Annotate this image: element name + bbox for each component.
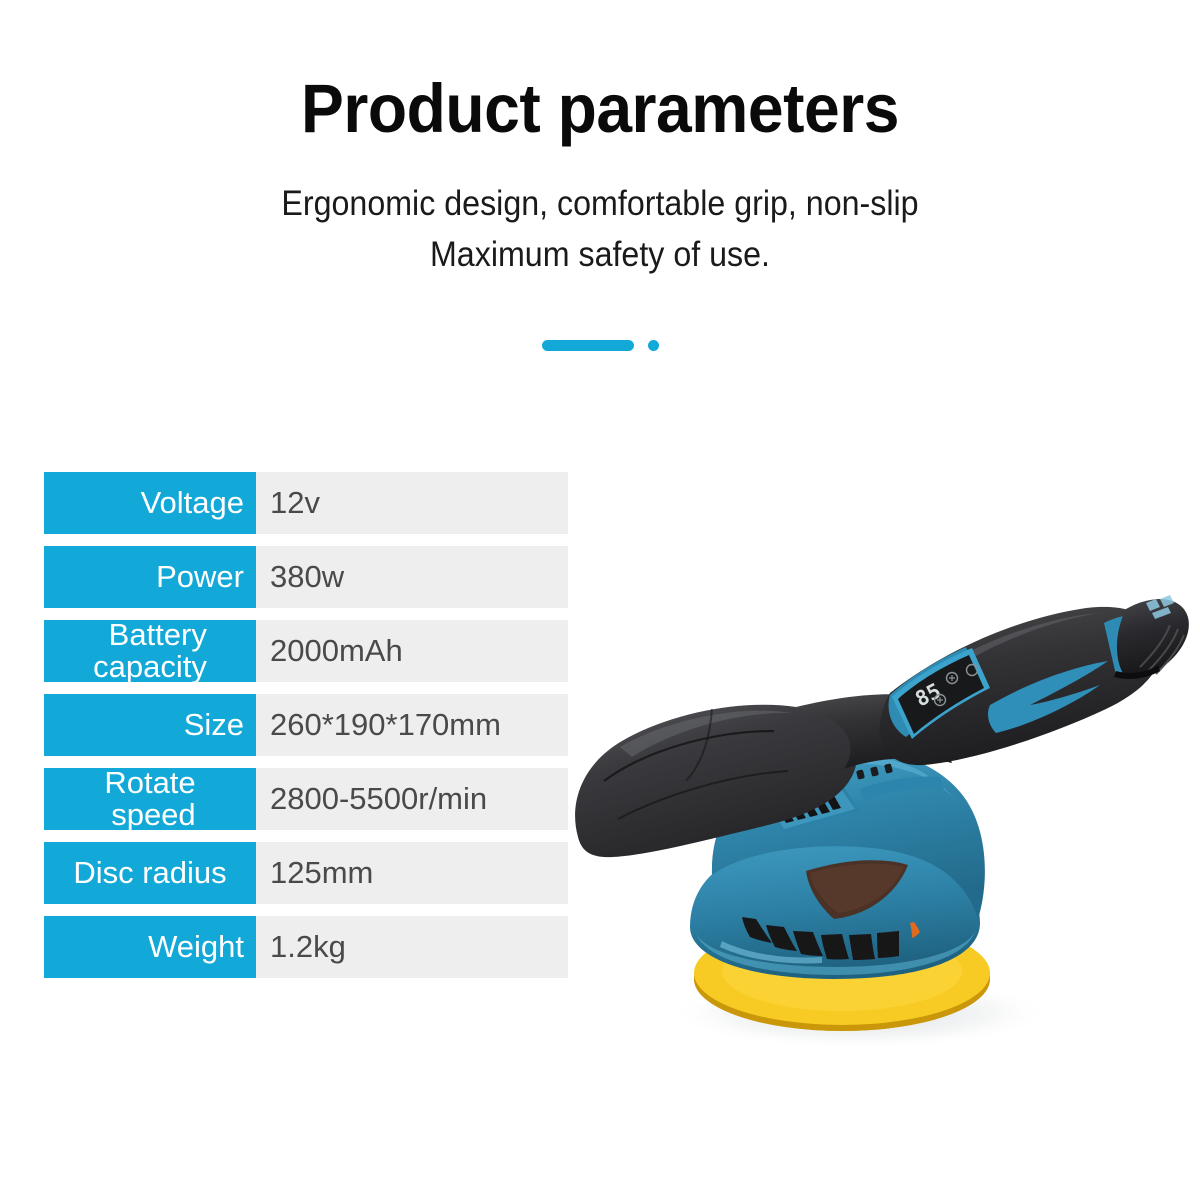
subtitle-line-1: Ergonomic design, comfortable grip, non-… [48, 179, 1152, 230]
section-divider [0, 340, 1200, 351]
spec-label: Power [44, 546, 256, 608]
spec-label: Battery capacity [44, 620, 256, 682]
spec-value: 125mm [256, 842, 568, 904]
divider-bar-icon [542, 340, 634, 351]
page-header: Product parameters Ergonomic design, com… [0, 0, 1200, 281]
battery-pack [1114, 599, 1189, 679]
spec-value: 1.2kg [256, 916, 568, 978]
divider-dot-icon [648, 340, 659, 351]
spec-label: Weight [44, 916, 256, 978]
spec-row: Rotate speed2800-5500r/min [44, 768, 568, 830]
product-image-cordless-polisher: 85 [560, 575, 1200, 1075]
subtitle-line-2: Maximum safety of use. [48, 230, 1152, 281]
spec-table: Voltage12vPower380wBattery capacity2000m… [44, 472, 568, 990]
spec-row: Power380w [44, 546, 568, 608]
page-title: Product parameters [42, 0, 1158, 143]
spec-row: Battery capacity2000mAh [44, 620, 568, 682]
spec-row: Voltage12v [44, 472, 568, 534]
spec-value: 12v [256, 472, 568, 534]
spec-value: 2800-5500r/min [256, 768, 568, 830]
spec-row: Weight1.2kg [44, 916, 568, 978]
spec-row: Size260*190*170mm [44, 694, 568, 756]
spec-label: Rotate speed [44, 768, 256, 830]
spec-label: Voltage [44, 472, 256, 534]
spec-value: 260*190*170mm [256, 694, 568, 756]
spec-value: 2000mAh [256, 620, 568, 682]
spec-label: Size [44, 694, 256, 756]
spec-label: Disc radius [44, 842, 256, 904]
spec-value: 380w [256, 546, 568, 608]
page-subtitle: Ergonomic design, comfortable grip, non-… [48, 143, 1152, 281]
spec-row: Disc radius125mm [44, 842, 568, 904]
